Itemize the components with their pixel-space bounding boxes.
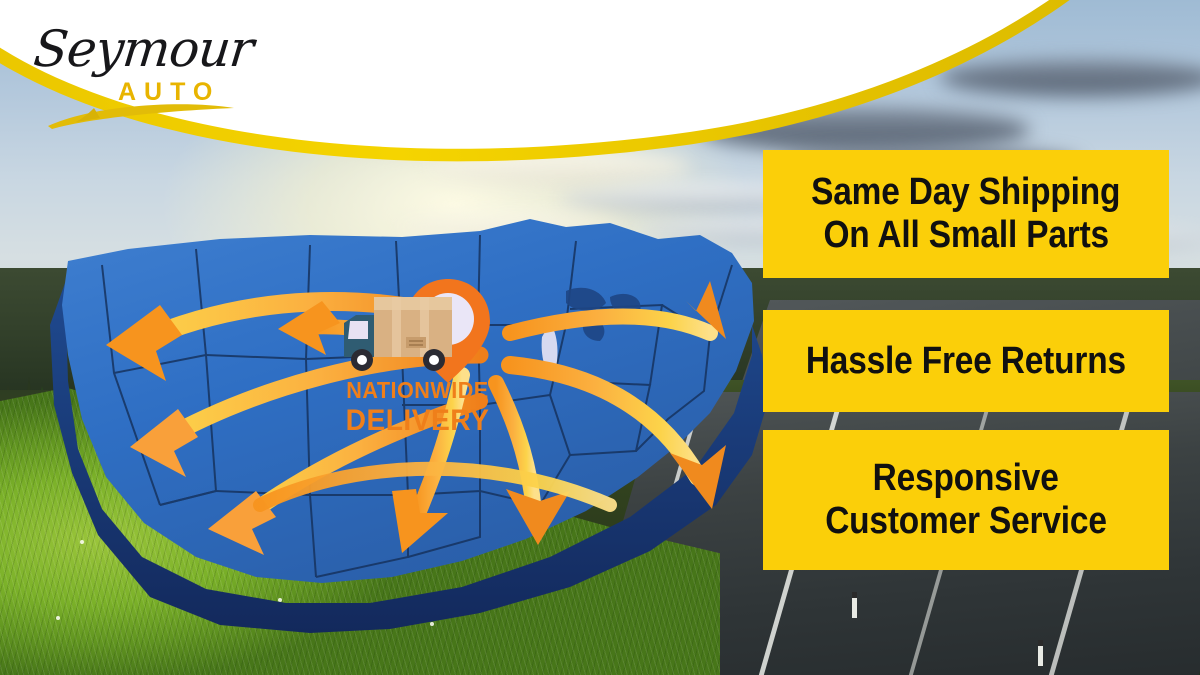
nationwide-delivery-badge: NATIONWIDE DELIVERY [330,275,505,455]
promo-banner: Seymour AUTO [0,0,1200,675]
badge-line-1: NATIONWIDE [335,379,500,402]
callout-line: Customer Service [825,500,1107,543]
callout-line: On All Small Parts [823,214,1109,257]
badge-line-2: DELIVERY [335,406,500,436]
logo-wordmark: Seymour [31,20,256,78]
truck-and-pin-graphic [330,275,505,385]
callout-line: Responsive [873,457,1059,500]
badge-caption: NATIONWIDE DELIVERY [330,379,505,436]
brand-logo[interactable]: Seymour AUTO [26,18,241,118]
callout-responsive-customer-service[interactable]: Responsive Customer Service [763,430,1169,570]
callout-same-day-shipping[interactable]: Same Day Shipping On All Small Parts [763,150,1169,278]
delivery-truck-icon [344,297,452,371]
callout-line: Same Day Shipping [811,171,1120,214]
callout-line: Hassle Free Returns [806,340,1126,383]
roadside-marker-post [1038,640,1043,666]
logo-swoosh-icon [46,96,236,130]
cloud [940,60,1200,96]
callout-hassle-free-returns[interactable]: Hassle Free Returns [763,310,1169,412]
roadside-marker-post [852,592,857,618]
